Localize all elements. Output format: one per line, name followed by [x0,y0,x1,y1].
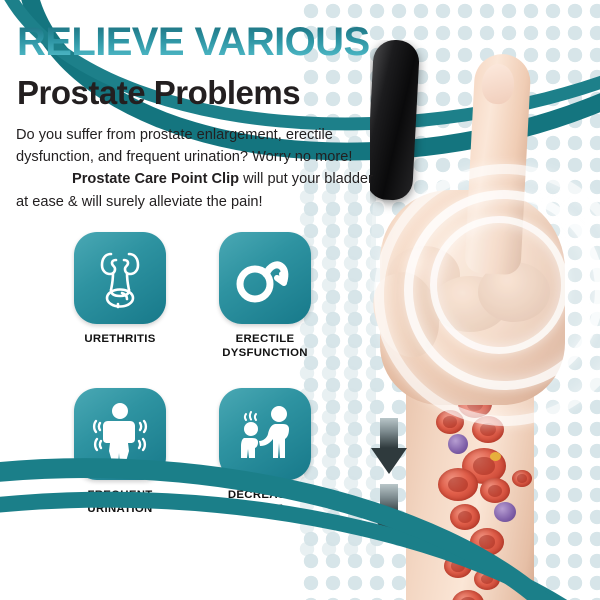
feature-label: ERECTILE DYSFUNCTION [190,333,340,361]
body-line-1: Do you suffer from prostate enlargement,… [16,127,333,143]
person-urgency-icon [88,401,152,467]
kidney-bladder-icon [89,246,151,310]
red-blood-cell [480,478,510,503]
body-line-3-rest: will put your bladder [239,171,373,187]
red-blood-cell [450,504,480,530]
couple-low-drive-icon [231,402,299,466]
feature-tile[interactable] [74,232,166,324]
page-title: RELIEVE VARIOUS [17,22,370,62]
feature-card-urethritis[interactable]: URETHRITIS [45,232,195,347]
page-subtitle: Prostate Problems [17,76,300,109]
white-blood-cell [494,502,516,522]
feature-tile[interactable] [219,232,311,324]
body-line-2: dysfunction, and frequent urination? Wor… [16,149,352,165]
product-name: Prostate Care Point Clip [72,171,239,187]
platelet [490,452,501,461]
body-copy: Do you suffer from prostate enlargement,… [16,124,398,213]
prostate-care-ad: RELIEVE VARIOUS Prostate Problems Do you… [0,0,600,600]
white-blood-cell [448,434,468,454]
down-arrow-icon [371,418,407,474]
male-symbol-icon [233,250,297,306]
feature-tile[interactable] [219,388,311,480]
feature-label: URETHRITIS [45,333,195,347]
red-blood-cell [512,470,532,487]
body-line-4: at ease & will surely alleviate the pain… [16,194,263,210]
feature-card-erectile-dysfunction[interactable]: ERECTILE DYSFUNCTION [190,232,340,361]
red-blood-cell [438,468,478,501]
